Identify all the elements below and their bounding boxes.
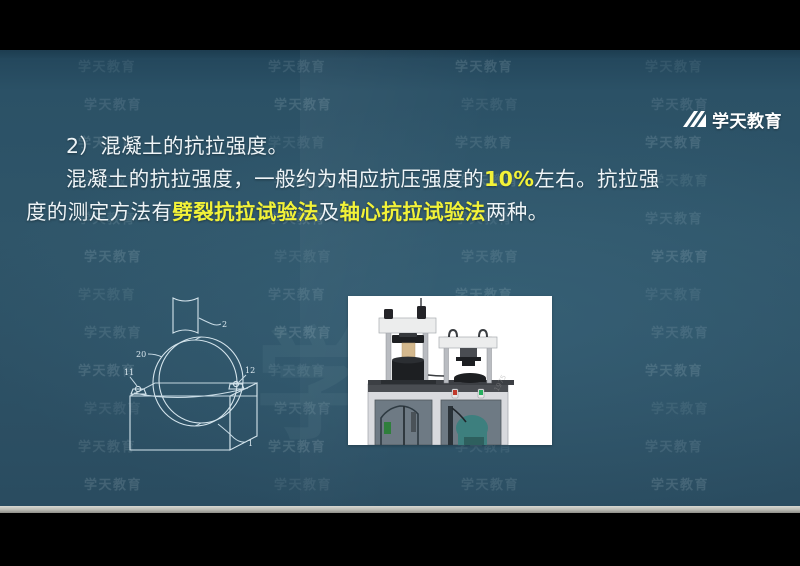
letterbox-top xyxy=(0,0,800,50)
brand-name: 学天教育 xyxy=(712,107,782,132)
diagram-label-1: 1 xyxy=(248,439,253,448)
line3-mid: 及 xyxy=(319,200,340,224)
watermark-text: 学天教育 xyxy=(455,56,513,75)
watermark-text: 学天教育 xyxy=(651,322,709,341)
text-line-1: 2）混凝土的抗拉强度。 xyxy=(26,130,774,163)
slide-top-shade xyxy=(0,50,800,59)
line3-part-b: 两种。 xyxy=(486,200,549,224)
watermark-text: 学天教育 xyxy=(84,474,142,493)
watermark-text: 学天教育 xyxy=(461,474,519,493)
watermark-text: 学天教育 xyxy=(84,246,142,265)
slide-body-text: 2）混凝土的抗拉强度。 混凝土的抗拉强度，一般约为相应抗压强度的10%左右。抗拉… xyxy=(26,130,774,230)
screen: 学 学天教育学天教育学天教育学天教育学天教育学天教育学天教育学天教育学天教育学天… xyxy=(0,0,800,566)
watermark-text: 学天教育 xyxy=(274,94,332,113)
brand-logo: 学天教育 xyxy=(681,107,782,132)
watermark-text: 学天教育 xyxy=(651,246,709,265)
watermark-text: 学天教育 xyxy=(268,56,326,75)
watermark-text: 学天教育 xyxy=(645,360,703,379)
line1-text: 2）混凝土的抗拉强度。 xyxy=(66,134,288,158)
slide-bottom-bar xyxy=(0,506,800,513)
watermark-text: 学天教育 xyxy=(84,94,142,113)
diagram-svg: 2 20 xyxy=(100,286,292,468)
watermark-text: 学天教育 xyxy=(645,436,703,455)
diagram-label-12: 12 xyxy=(245,366,255,375)
watermark-text: 学天教育 xyxy=(461,246,519,265)
line3-highlight-1: 劈裂抗拉试验法 xyxy=(172,200,318,224)
watermark-text: 学天教育 xyxy=(651,474,709,493)
watermark-text: 学天教育 xyxy=(645,56,703,75)
watermark-text: 学天教育 xyxy=(461,94,519,113)
watermark-text: 学天教育 xyxy=(274,246,332,265)
watermark-text: 学天教育 xyxy=(645,284,703,303)
presentation-slide: 学 学天教育学天教育学天教育学天教育学天教育学天教育学天教育学天教育学天教育学天… xyxy=(0,50,800,506)
line2-part-b: 左右。抗拉强 xyxy=(534,167,659,191)
text-line-3: 度的测定方法有劈裂抗拉试验法及轴心抗拉试验法两种。 xyxy=(26,196,774,229)
line2-part-a: 混凝土的抗拉强度，一般约为相应抗压强度的 xyxy=(66,167,484,191)
diagram-label-20: 20 xyxy=(136,350,146,359)
diagram-label-11: 11 xyxy=(124,368,134,377)
slash-arrow-icon xyxy=(681,110,707,129)
splitting-tensile-test-diagram: 2 20 xyxy=(100,286,292,468)
line3-highlight-2: 轴心抗拉试验法 xyxy=(340,200,486,224)
line2-highlight: 10% xyxy=(484,167,534,191)
text-line-2: 混凝土的抗拉强度，一般约为相应抗压强度的10%左右。抗拉强 xyxy=(26,163,774,196)
diagram-label-2: 2 xyxy=(222,320,227,329)
machine-illustration: 1975 xyxy=(348,296,552,445)
watermark-text: 学天教育 xyxy=(651,398,709,417)
compression-testing-machine-photo: 1975 xyxy=(348,296,552,445)
line3-part-a: 度的测定方法有 xyxy=(26,200,172,224)
watermark-text: 学天教育 xyxy=(274,474,332,493)
watermark-text: 学天教育 xyxy=(78,56,136,75)
letterbox-bottom xyxy=(0,513,800,566)
